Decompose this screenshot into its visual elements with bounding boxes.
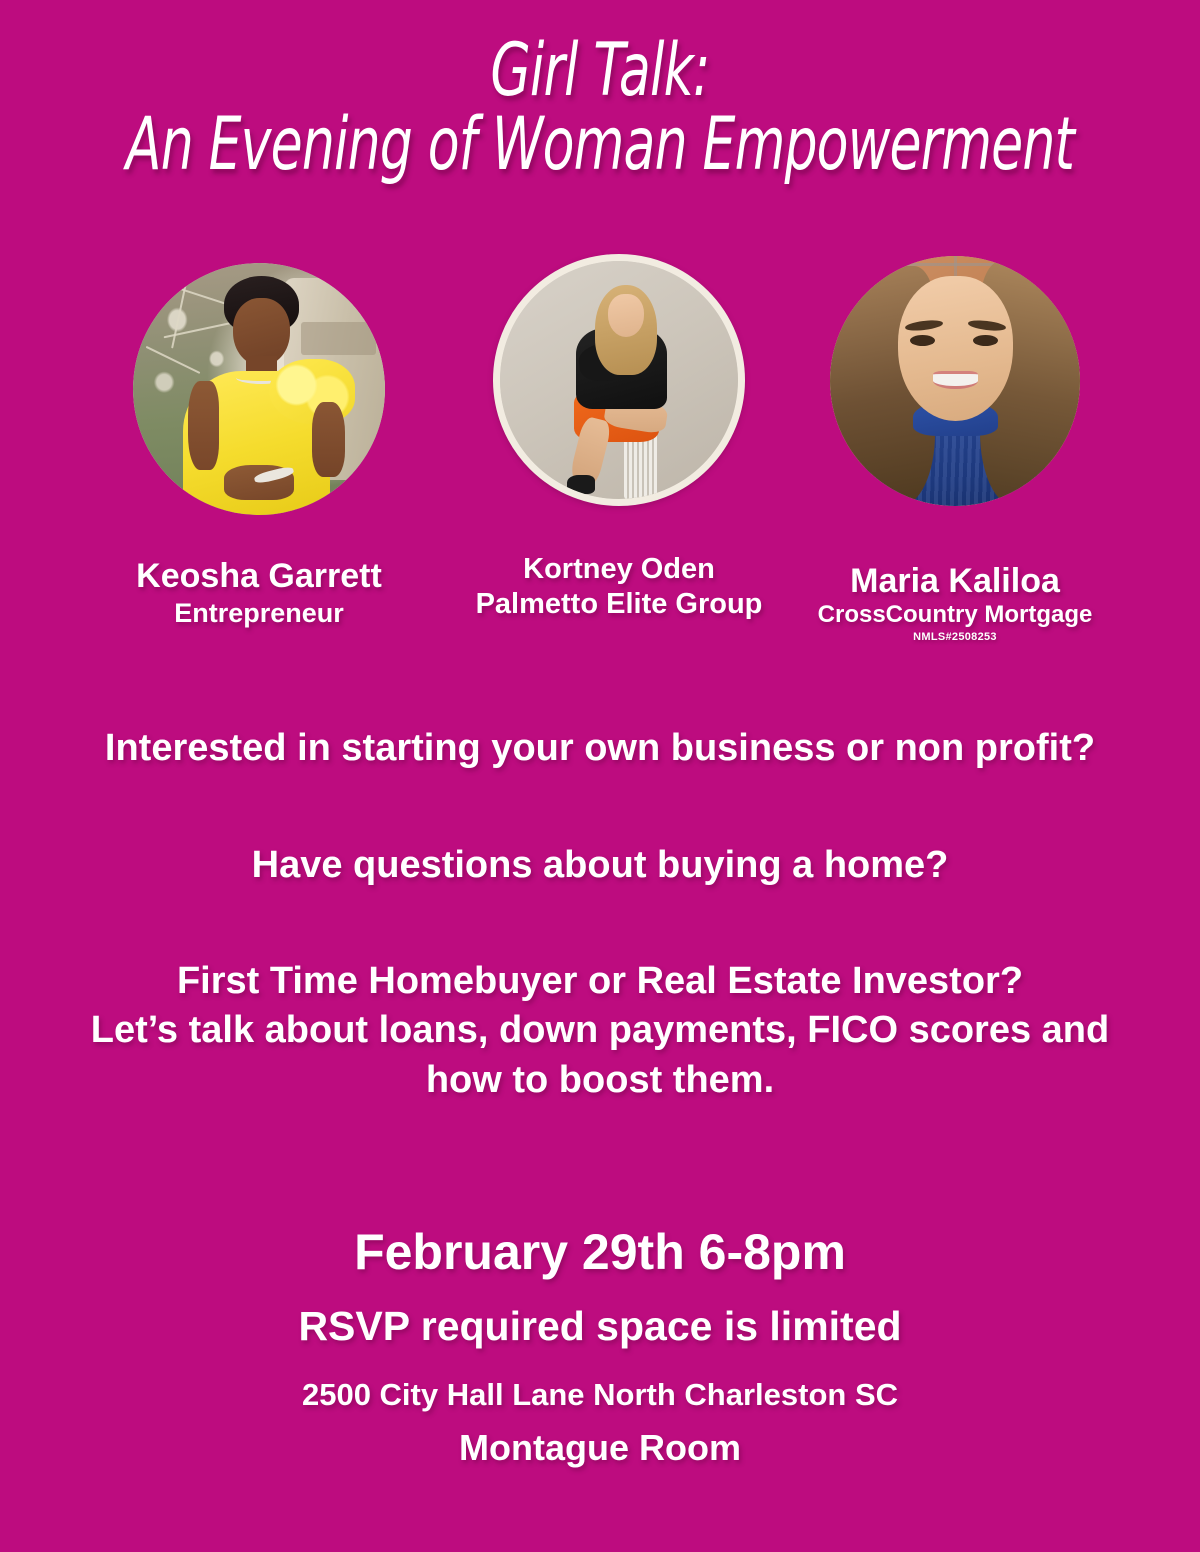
body-paragraph-3-line-2: Let’s talk about loans, down payments, F… (0, 1006, 1200, 1055)
speaker-nmls-id: NMLS#2508253 (800, 631, 1110, 644)
speaker-name: Maria Kaliloa (800, 562, 1110, 600)
event-flyer: Girl Talk: An Evening of Woman Empowerme… (0, 0, 1200, 1552)
body-paragraph-3-line-1: First Time Homebuyer or Real Estate Inve… (0, 957, 1200, 1006)
speaker-card-maria-kaliloa: Maria Kaliloa CrossCountry Mortgage NMLS… (800, 256, 1110, 644)
speaker-photo-maria-kaliloa (830, 256, 1080, 506)
speaker-card-keosha-garrett: Keosha Garrett Entrepreneur (104, 263, 414, 628)
event-details: February 29th 6-8pm RSVP required space … (0, 1222, 1200, 1470)
speaker-org: Palmetto Elite Group (464, 588, 774, 620)
flyer-body-copy: Interested in starting your own business… (0, 724, 1200, 1105)
body-paragraph-3: First Time Homebuyer or Real Estate Inve… (0, 957, 1200, 1105)
speaker-org: CrossCountry Mortgage (800, 602, 1110, 629)
speaker-org: Entrepreneur (104, 598, 414, 628)
event-room: Montague Room (0, 1426, 1200, 1470)
body-paragraph-1: Interested in starting your own business… (0, 724, 1200, 773)
title-line-2: An Evening of Woman Empowerment (96, 99, 1104, 189)
speaker-list: Keosha Garrett Entrepreneur Ko (0, 250, 1200, 670)
event-address: 2500 City Hall Lane North Charleston SC (0, 1376, 1200, 1414)
body-paragraph-3-line-3: how to boost them. (0, 1056, 1200, 1105)
body-paragraph-2: Have questions about buying a home? (0, 841, 1200, 890)
speaker-photo-kortney-oden (493, 254, 745, 506)
speaker-card-kortney-oden: Kortney Oden Palmetto Elite Group (464, 254, 774, 621)
speaker-name: Keosha Garrett (104, 557, 414, 595)
event-date-time: February 29th 6-8pm (0, 1222, 1200, 1283)
event-rsvp-note: RSVP required space is limited (0, 1301, 1200, 1351)
flyer-title: Girl Talk: An Evening of Woman Empowerme… (0, 34, 1200, 182)
speaker-photo-keosha-garrett (133, 263, 385, 515)
speaker-name: Kortney Oden (464, 553, 774, 585)
